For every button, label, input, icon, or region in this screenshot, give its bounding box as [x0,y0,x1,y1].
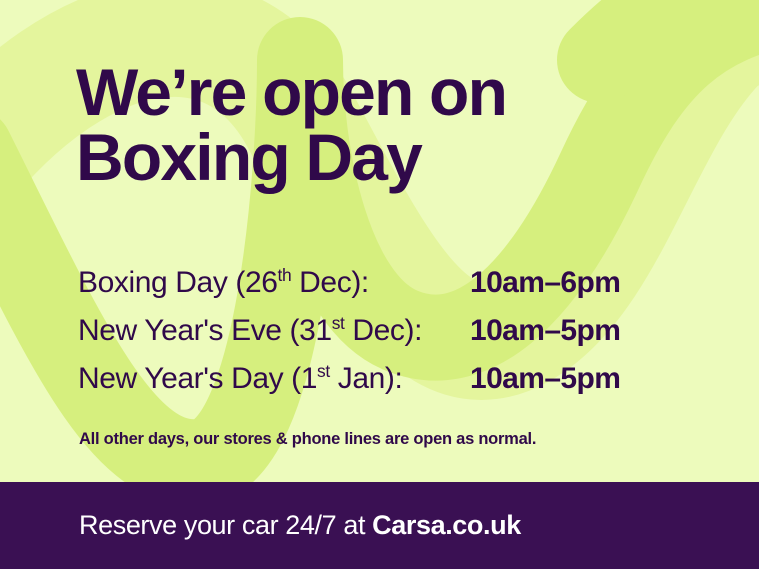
table-row: Boxing Day (26th Dec): 10am–6pm [78,266,698,314]
hours-label-suffix: Dec): [344,314,422,347]
table-row: New Year's Day (1st Jan): 10am–5pm [78,362,698,410]
footer-tagline: Reserve your car 24/7 at Carsa.co.uk [0,510,521,541]
hours-value: 10am–5pm [470,314,620,348]
ordinal-suffix: th [278,265,292,285]
hours-label-suffix: Dec): [291,266,369,299]
disclaimer-text: All other days, our stores & phone lines… [79,430,536,449]
hours-label-prefix: New Year's Eve (31 [78,314,332,347]
hours-label-suffix: Jan): [330,362,403,395]
hours-label: Boxing Day (26th Dec): [78,266,470,300]
hours-value: 10am–5pm [470,362,620,396]
brand-name: Carsa.co.uk [372,510,521,540]
hours-label: New Year's Eve (31st Dec): [78,314,470,348]
poster-content: We’re open on Boxing Day Boxing Day (26t… [0,0,759,482]
promo-poster: We’re open on Boxing Day Boxing Day (26t… [0,0,759,569]
opening-hours-table: Boxing Day (26th Dec): 10am–6pm New Year… [78,266,698,410]
page-title: We’re open on Boxing Day [76,60,696,191]
hours-value: 10am–6pm [470,266,620,300]
ordinal-suffix: st [317,361,330,381]
hours-label-prefix: New Year's Day (1 [78,362,317,395]
hours-label-prefix: Boxing Day (26 [78,266,278,299]
ordinal-suffix: st [332,313,345,333]
hours-label: New Year's Day (1st Jan): [78,362,470,396]
footer-banner: Reserve your car 24/7 at Carsa.co.uk [0,482,759,569]
table-row: New Year's Eve (31st Dec): 10am–5pm [78,314,698,362]
footer-lead-text: Reserve your car 24/7 at [79,510,372,540]
